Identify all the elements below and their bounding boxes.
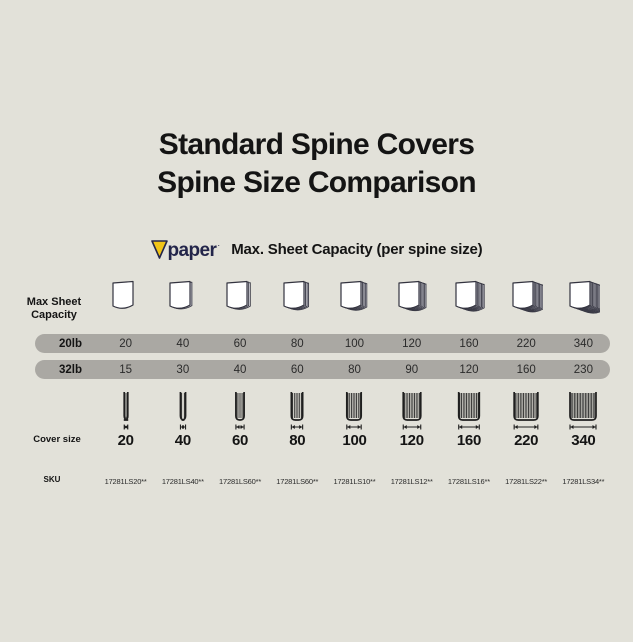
sheet-stack-icon <box>280 279 314 323</box>
capacity-value-20lb: 100 <box>326 334 383 353</box>
row-label-20lb: 20lb <box>59 334 82 353</box>
capacity-value-20lb: 20 <box>97 334 154 353</box>
capacity-value-32lb: 230 <box>555 360 612 379</box>
cover-size-value: 340 <box>555 430 612 450</box>
sheet-stack-cell <box>269 276 326 326</box>
cover-size-value: 220 <box>498 430 555 450</box>
sheet-stack-cell <box>383 276 440 326</box>
sheet-stack-cell <box>154 276 211 326</box>
capacity-row-32lb: 32lb 153040608090120160230 <box>35 360 610 379</box>
sheet-stack-cell <box>211 276 268 326</box>
sheet-stack-cell <box>97 276 154 326</box>
capacity-value-20lb: 40 <box>154 334 211 353</box>
cover-size-value: 160 <box>440 430 497 450</box>
capacity-value-32lb: 160 <box>498 360 555 379</box>
sheet-stack-cell <box>326 276 383 326</box>
spine-icon-cell <box>555 388 612 436</box>
max-sheet-capacity-label-line2: Capacity <box>14 309 94 322</box>
title-line-2: Spine Size Comparison <box>0 164 633 202</box>
capacity-value-20lb: 80 <box>269 334 326 353</box>
cover-size-value: 120 <box>383 430 440 450</box>
spine-icon-cell <box>326 388 383 436</box>
sheet-stack-icon <box>223 279 257 323</box>
sku-value: 17281LS60** <box>211 474 268 488</box>
capacity-values-20lb: 20406080100120160220340 <box>97 334 612 353</box>
capacity-value-20lb: 160 <box>440 334 497 353</box>
sheet-stack-icon <box>566 279 600 323</box>
cover-size-value: 20 <box>97 430 154 450</box>
cover-size-value: 40 <box>154 430 211 450</box>
sku-value: 17281LS40** <box>154 474 211 488</box>
sheet-stack-cell <box>440 276 497 326</box>
title-line-1: Standard Spine Covers <box>0 126 633 164</box>
spine-icon-cell <box>211 388 268 436</box>
sku-value: 17281LS16** <box>440 474 497 488</box>
spine-icon-cell <box>97 388 154 436</box>
capacity-value-20lb: 340 <box>555 334 612 353</box>
page-title: Standard Spine Covers Spine Size Compari… <box>0 126 633 202</box>
sku-value: 17281LS22** <box>498 474 555 488</box>
sheet-stack-cell <box>555 276 612 326</box>
capacity-value-20lb: 220 <box>498 334 555 353</box>
vpaper-logo: paper · <box>151 240 220 259</box>
logo-v-icon <box>151 240 168 259</box>
capacity-value-32lb: 40 <box>211 360 268 379</box>
sheet-stack-icon <box>395 279 429 323</box>
capacity-value-32lb: 120 <box>440 360 497 379</box>
sku-value: 17281LS10** <box>326 474 383 488</box>
sku-value: 17281LS34** <box>555 474 612 488</box>
spine-icon-cell <box>498 388 555 436</box>
cover-size-value: 100 <box>326 430 383 450</box>
spine-icon-cell <box>154 388 211 436</box>
spine-icon-row <box>97 388 612 436</box>
capacity-value-32lb: 80 <box>326 360 383 379</box>
sheet-stack-icon <box>109 279 143 323</box>
sheet-stack-icon <box>166 279 200 323</box>
sku-label: SKU <box>14 475 90 484</box>
row-label-32lb: 32lb <box>59 360 82 379</box>
logo-wordmark: paper <box>168 241 217 260</box>
sku-value-row: 17281LS20**17281LS40**17281LS60**17281LS… <box>97 474 612 488</box>
subheader-text: Max. Sheet Capacity (per spine size) <box>231 241 482 258</box>
sheet-stack-icon-row <box>97 276 612 326</box>
max-sheet-capacity-label: Max Sheet Capacity <box>14 296 94 322</box>
capacity-value-32lb: 60 <box>269 360 326 379</box>
capacity-value-32lb: 30 <box>154 360 211 379</box>
capacity-value-32lb: 15 <box>97 360 154 379</box>
subheader: paper · Max. Sheet Capacity (per spine s… <box>0 240 633 259</box>
infographic-page: Standard Spine Covers Spine Size Compari… <box>0 0 633 642</box>
logo-registered-mark: · <box>217 240 220 250</box>
cover-size-label: Cover size <box>14 434 100 445</box>
cover-size-value: 60 <box>211 430 268 450</box>
sheet-stack-cell <box>498 276 555 326</box>
sheet-stack-icon <box>337 279 371 323</box>
sku-value: 17281LS20** <box>97 474 154 488</box>
sheet-stack-icon <box>509 279 543 323</box>
spine-icon-cell <box>383 388 440 436</box>
max-sheet-capacity-label-line1: Max Sheet <box>14 296 94 309</box>
capacity-value-20lb: 60 <box>211 334 268 353</box>
capacity-value-32lb: 90 <box>383 360 440 379</box>
cover-size-value: 80 <box>269 430 326 450</box>
spine-icon-cell <box>269 388 326 436</box>
capacity-value-20lb: 120 <box>383 334 440 353</box>
sku-value: 17281LS60** <box>269 474 326 488</box>
spine-icon-cell <box>440 388 497 436</box>
sheet-stack-icon <box>452 279 486 323</box>
cover-size-value-row: 20406080100120160220340 <box>97 430 612 450</box>
capacity-values-32lb: 153040608090120160230 <box>97 360 612 379</box>
capacity-row-20lb: 20lb 20406080100120160220340 <box>35 334 610 353</box>
sku-value: 17281LS12** <box>383 474 440 488</box>
